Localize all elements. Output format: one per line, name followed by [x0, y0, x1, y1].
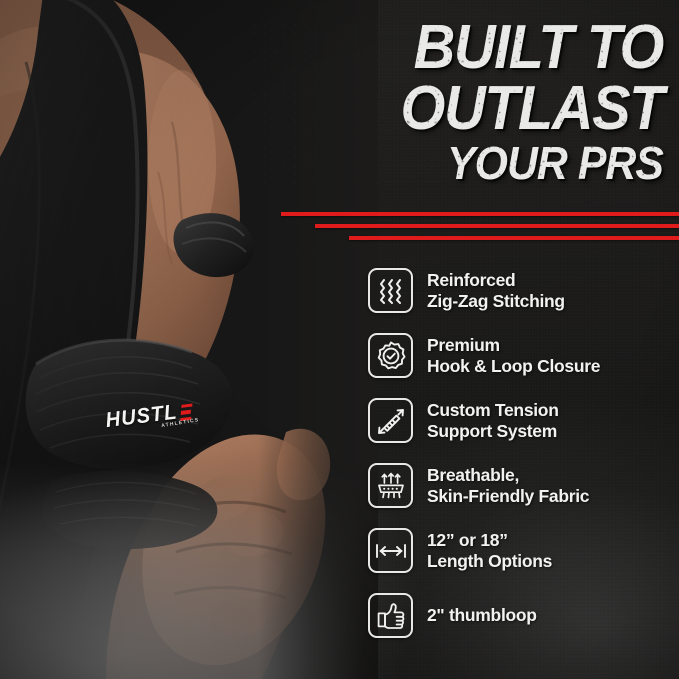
- feature-text: 12” or 18” Length Options: [427, 530, 552, 571]
- accent-rule-3: [349, 236, 679, 240]
- feature-line-1: Breathable,: [427, 465, 519, 485]
- feature-line-1: 2" thumbloop: [427, 605, 537, 625]
- zigzag-stitching-icon: [368, 268, 413, 313]
- feature-item: 2" thumbloop: [368, 583, 668, 648]
- headline-line-1: BUILT TO: [248, 18, 663, 78]
- length-measure-icon: [368, 528, 413, 573]
- red-accent-rules: [259, 212, 679, 240]
- feature-line-1: Reinforced: [427, 270, 515, 290]
- feature-item: 12” or 18” Length Options: [368, 518, 668, 583]
- feature-line-2: Hook & Loop Closure: [427, 356, 600, 376]
- feature-text: 2" thumbloop: [427, 605, 537, 625]
- feature-item: Breathable, Skin-Friendly Fabric: [368, 453, 668, 518]
- feature-item: Reinforced Zig-Zag Stitching: [368, 258, 668, 323]
- feature-list: Reinforced Zig-Zag Stitching Premium Hoo…: [368, 258, 668, 648]
- feature-item: Custom Tension Support System: [368, 388, 668, 453]
- headline: BUILT TO OUTLAST YOUR PRS: [217, 18, 663, 185]
- feature-text: Breathable, Skin-Friendly Fabric: [427, 465, 589, 506]
- stretch-tension-icon: [368, 398, 413, 443]
- badge-check-icon: [368, 333, 413, 378]
- feature-text: Custom Tension Support System: [427, 400, 559, 441]
- feature-line-1: Custom Tension: [427, 400, 559, 420]
- accent-rule-1: [281, 212, 679, 216]
- feature-line-1: 12” or 18”: [427, 530, 508, 550]
- headline-line-2: OUTLAST: [248, 79, 663, 139]
- product-feature-poster: HUSTL ATHLETICS BUILT TO OUTLAST YOUR PR…: [0, 0, 679, 679]
- feature-line-2: Zig-Zag Stitching: [427, 291, 565, 311]
- feature-text: Premium Hook & Loop Closure: [427, 335, 600, 376]
- thumbs-up-icon: [368, 593, 413, 638]
- feature-line-1: Premium: [427, 335, 500, 355]
- headline-line-3: YOUR PRS: [248, 141, 663, 185]
- feature-item: Premium Hook & Loop Closure: [368, 323, 668, 388]
- feature-line-2: Support System: [427, 421, 559, 441]
- feature-text: Reinforced Zig-Zag Stitching: [427, 270, 565, 311]
- feature-line-2: Length Options: [427, 551, 552, 571]
- feature-line-2: Skin-Friendly Fabric: [427, 486, 589, 506]
- breathable-fabric-icon: [368, 463, 413, 508]
- accent-rule-2: [315, 224, 679, 228]
